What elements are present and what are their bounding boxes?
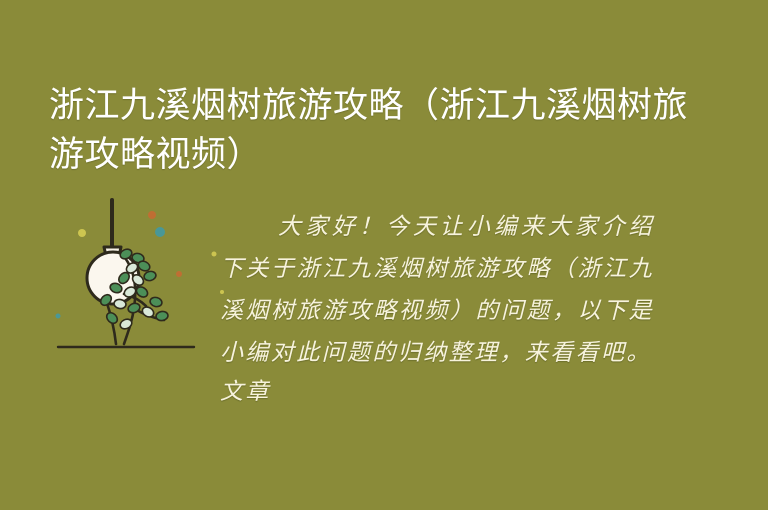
article-paragraph-1: 大家好！今天让小编来大家介绍下关于浙江九溪烟树旅游攻略（浙江九溪烟树旅游攻略视频… xyxy=(220,206,654,374)
hanging-lantern-illustration xyxy=(46,196,226,361)
lantern-illustration-svg xyxy=(46,196,226,361)
page-title: 浙江九溪烟树旅游攻略（浙江九溪烟树旅游攻略视频） xyxy=(49,81,709,179)
article-card: 浙江九溪烟树旅游攻略（浙江九溪烟树旅游攻略视频） xyxy=(0,0,768,510)
article-body: 大家好！今天让小编来大家介绍下关于浙江九溪烟树旅游攻略（浙江九溪烟树旅游攻略视频… xyxy=(220,206,654,410)
article-paragraph-2: 文章 xyxy=(220,374,654,410)
